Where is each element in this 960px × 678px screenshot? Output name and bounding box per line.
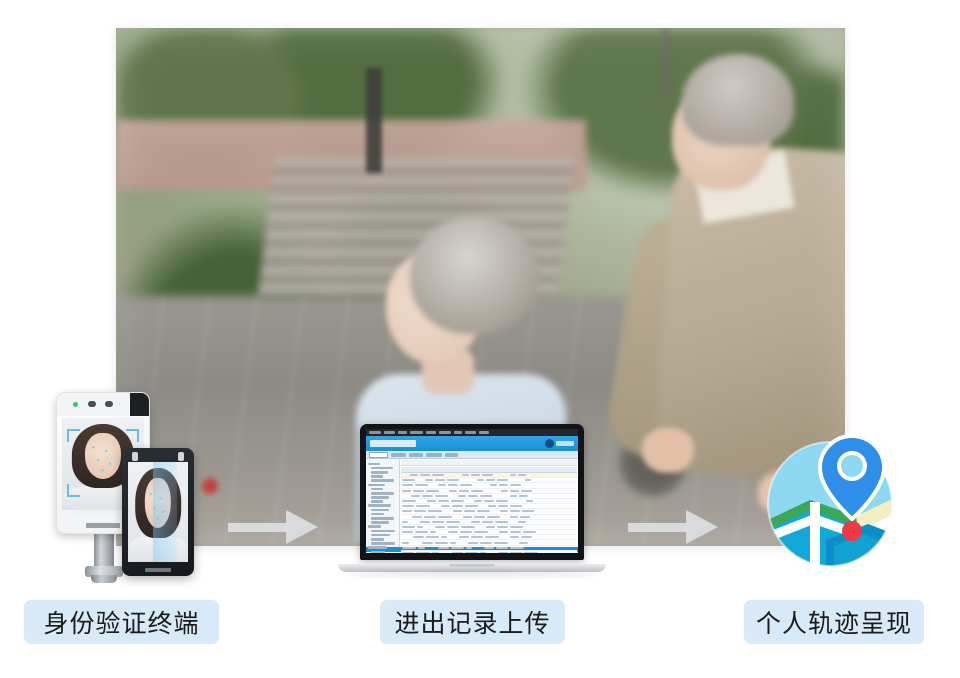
grid-cell [484,500,494,502]
grid-cell [482,521,493,523]
grid-cell [448,531,458,533]
terminal-stand-cap [91,575,117,583]
grid-cell [413,536,424,538]
grid-cell [463,516,472,518]
flow-arrow-1 [228,510,320,544]
grid-cell [474,516,485,518]
grid-cell [416,552,430,553]
ir-lamp-right-icon [178,452,184,461]
tree-node[interactable] [371,467,393,470]
flow-arrow-2 [628,510,720,544]
app-tab-strip[interactable] [366,451,578,459]
map-pin-circle-icon [764,428,908,576]
grid-cell [402,552,414,553]
grid-cell [452,552,463,553]
grid-cell [402,526,415,528]
grid-cell [420,521,430,523]
app-body [366,459,578,547]
poster-stage: 身份验证终端 进出记录上传 个人轨迹呈现 [0,0,960,678]
grid-cell [461,526,475,528]
grid-toolbar[interactable] [401,460,577,466]
tree-node[interactable] [371,530,395,533]
grid-cell [486,479,495,481]
grid-cell [510,536,519,538]
grid-cell [435,479,445,481]
grid-cell [424,516,436,518]
grid-cell [402,490,411,492]
grid-cell [435,526,445,528]
tree-node[interactable] [371,538,384,541]
status-led-icon [73,402,78,407]
tree-node[interactable] [371,475,383,478]
grid-cell [471,490,483,492]
grid-cell [488,505,496,507]
menu-item[interactable] [465,431,476,434]
tree-node[interactable] [371,551,385,553]
tree-node[interactable] [368,525,381,528]
grid-cell [487,516,500,518]
grid-cell [402,531,413,533]
grid-cell [510,547,524,549]
grid-cell [441,505,450,507]
menu-item[interactable] [479,431,489,434]
grid-cell [462,474,469,476]
grid-cell [521,536,532,538]
grid-cell [438,484,446,486]
grid-cell [447,526,459,528]
grid-cell [402,479,415,481]
step-label-text: 进出记录上传 [394,604,550,640]
grid-cell [435,542,448,544]
grid-cell [402,510,412,512]
grid-cell [428,510,442,512]
grid-cell [427,500,436,502]
tab-item[interactable] [445,453,458,457]
brand-logo-icon [145,568,171,572]
ir-lamp-left-icon [132,452,138,461]
grid-cell [465,552,478,553]
grid-cell [402,547,416,549]
grid-cell [447,479,459,481]
grid-cell [432,521,444,523]
grid-cell [402,505,414,507]
tree-node[interactable] [368,463,380,466]
grid-cell [468,495,478,497]
records-data-grid[interactable] [400,459,578,547]
grid-cell [438,547,449,549]
grid-cell [474,531,488,533]
grid-cell [450,542,456,544]
brand-logo-icon [86,523,120,528]
grid-cell [446,521,460,523]
grid-cell [468,542,478,544]
grid-cell [471,536,483,538]
tree-node[interactable] [371,517,394,520]
grid-cell [497,479,508,481]
tree-node[interactable] [368,484,385,487]
grid-cell [438,516,452,518]
tree-node[interactable] [371,479,394,482]
arrow-shaft [228,523,290,532]
tree-node[interactable] [371,496,389,499]
grid-cell [498,505,508,507]
detect-bracket-bl-icon [67,484,80,497]
grid-cell [460,531,472,533]
grid-cell [415,531,428,533]
grid-cell [499,531,508,533]
grid-cell [418,547,425,549]
grid-cell [486,526,495,528]
grid-cell [452,505,463,507]
grid-cell [448,484,458,486]
grid-cell [438,500,449,502]
ir-sensor-icon [130,393,149,416]
grid-cell [416,505,430,507]
grid-cell [510,510,520,512]
grid-cell [498,552,508,553]
tree-node[interactable] [371,500,383,503]
grid-cell [480,552,486,553]
grid-cell [510,531,521,533]
grid-cell [430,531,436,533]
tab-item[interactable] [391,453,406,457]
scan-overlay-icon [153,462,177,562]
grid-cell [480,542,492,544]
grid-cell [460,484,472,486]
menu-item[interactable] [398,431,407,434]
step-label-identity-terminal: 身份验证终端 [24,600,219,644]
camera-lens-secondary-icon [105,401,113,407]
grid-cell [471,521,480,523]
grid-cell [477,510,490,512]
tree-node[interactable] [371,534,390,537]
grid-cell [411,495,420,497]
grid-cell [519,495,528,497]
portrait-female-2 [128,462,188,562]
grid-cell [495,521,508,523]
grid-cell [459,536,469,538]
grid-cell [510,552,522,553]
grid-cell [465,505,478,507]
grid-cell [415,484,428,486]
grid-cell [520,516,530,518]
tab-active[interactable] [369,452,388,458]
grid-cell [441,536,447,538]
tree-node[interactable] [371,542,395,545]
black-terminal-screen [128,462,188,562]
tree-sidebar[interactable] [366,459,400,547]
detect-bracket-tr-icon [126,429,139,442]
face-mesh-points-icon [87,440,120,477]
app-header [366,436,578,451]
grid-row[interactable] [401,551,577,553]
grid-cell [451,547,464,549]
grid-cell [426,536,439,538]
laptop-shadow [346,571,598,576]
black-face-terminal[interactable] [122,448,194,576]
grid-cell [413,490,424,492]
grid-cell [496,547,508,549]
face-verification-terminals [44,392,224,584]
grid-cell [422,542,433,544]
grid-cell [499,484,508,486]
grid-cell [432,552,439,553]
grid-cell [523,531,536,533]
grid-cell [402,542,409,544]
map-trajectory-icon [764,428,908,576]
menu-item[interactable] [454,431,462,434]
arrow-shaft [628,523,690,532]
app-menu-bar[interactable] [366,429,578,436]
grid-cell [510,490,519,492]
grid-cell [402,484,413,486]
grid-cell [490,484,497,486]
menu-item[interactable] [384,431,395,434]
grid-cell [466,547,472,549]
grid-cell [497,526,508,528]
grid-cell [524,552,538,553]
grid-cell [458,495,466,497]
app-brand [545,439,574,448]
menu-item[interactable] [369,431,381,434]
tree-node[interactable] [371,471,388,474]
grid-cell [412,516,422,518]
grid-cell [422,495,433,497]
step-label-text: 个人轨迹呈现 [756,604,912,640]
grid-cell [485,536,499,538]
grid-cell [453,510,462,512]
grid-cell [510,526,523,528]
grid-cell [451,500,464,502]
user-account-plate[interactable] [556,441,574,446]
grid-cell [522,510,534,512]
grid-cell [464,510,475,512]
grid-cell [432,474,444,476]
tree-node[interactable] [371,509,389,512]
grid-cell [526,500,533,502]
grid-cell [410,474,418,476]
laptop-notch [449,564,495,567]
grid-cell [480,495,492,497]
grid-cell [477,479,484,481]
app-title-plate [370,440,416,447]
tree-node[interactable] [371,513,384,516]
grid-cell [510,474,516,476]
grid-cell [518,521,526,523]
tab-item[interactable] [409,453,423,457]
grid-cell [482,474,493,476]
grid-cell [417,526,423,528]
grid-cell [426,490,439,492]
grid-cell [474,500,482,502]
laptop-device [338,424,606,576]
laptop-lid [360,424,584,560]
app-logo-icon [545,439,554,448]
grid-cell [420,474,430,476]
grid-cell [449,490,457,492]
grid-cell [500,510,508,512]
menu-item[interactable] [410,431,423,434]
grid-cell [425,479,433,481]
terminal-sensor-bar [57,393,149,416]
grid-cell [402,500,416,502]
grid-cell [494,542,508,544]
tree-node[interactable] [371,488,383,491]
tree-node[interactable] [371,492,394,495]
grid-cell [496,500,508,502]
tree-node[interactable] [368,546,387,549]
step-label-trajectory: 个人轨迹呈现 [744,600,924,644]
menu-item[interactable] [439,431,451,434]
grid-cell [510,516,518,518]
menu-item[interactable] [426,431,436,434]
grid-cell [525,479,531,481]
grid-cell [510,484,521,486]
grid-cell [414,510,426,512]
detect-bracket-tl-icon [67,429,80,442]
grid-cell [501,490,508,492]
grid-cell [471,474,480,476]
grid-cell [519,542,528,544]
grid-cell [510,495,517,497]
grid-cell [459,490,469,492]
step-label-text: 身份验证终端 [43,604,199,640]
grid-cell [510,505,522,507]
step-label-record-upload: 进出记录上传 [380,600,565,644]
camera-lens-icon [88,401,96,407]
tree-node[interactable] [368,504,391,507]
laptop-screen[interactable] [366,429,578,553]
grid-cell [518,474,526,476]
grid-cell [521,490,532,492]
arrow-head-icon [686,510,718,544]
grid-cell [435,495,448,497]
grid-cell [402,521,408,523]
grid-cell [484,547,494,549]
tree-node[interactable] [371,521,389,524]
tab-item[interactable] [426,453,442,457]
arrow-head-icon [286,510,318,544]
